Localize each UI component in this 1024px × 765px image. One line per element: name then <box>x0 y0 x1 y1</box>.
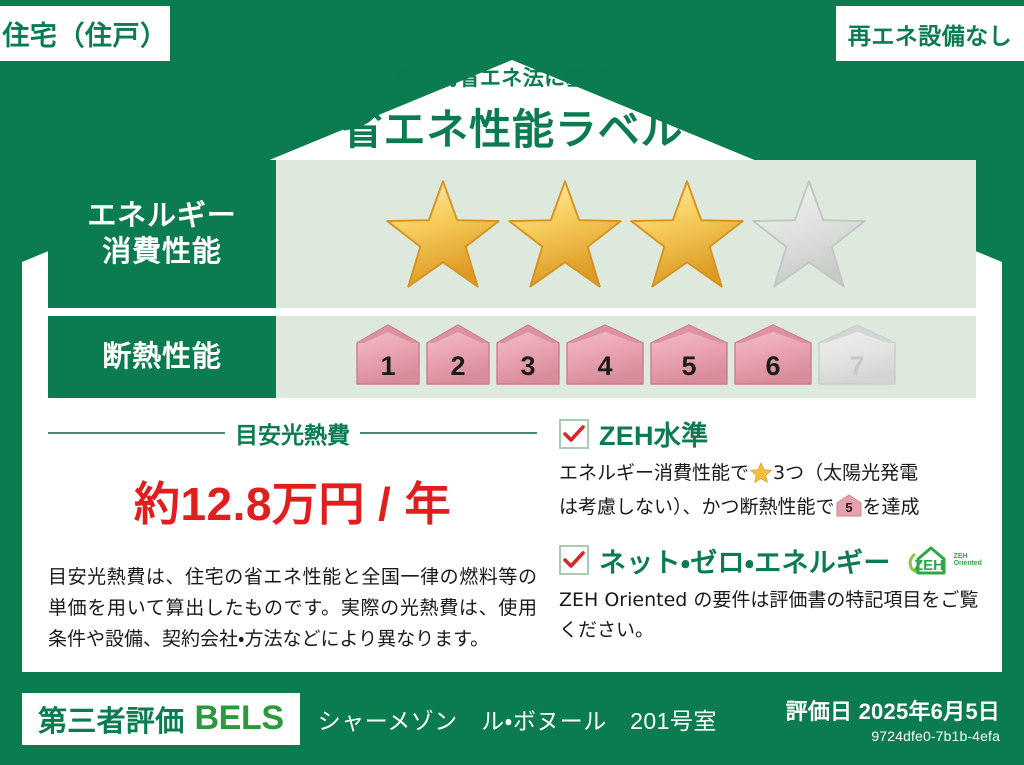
house-grade-filled: 2 <box>424 323 492 392</box>
house-grade-scale: 1234567 <box>354 323 898 392</box>
check-body-zeh-level: エネルギー消費性能で 3つ（太陽光発電 は考慮しない）、かつ断熱性能で 5 を達… <box>559 458 982 527</box>
star-filled-icon <box>383 176 503 292</box>
checkbox-zeh-level[interactable] <box>559 419 589 449</box>
star-filled-icon <box>627 176 747 292</box>
performance-area: エネルギー 消費性能 断熱性能 1234567 <box>48 160 976 406</box>
house-grade-filled: 5 <box>648 323 730 392</box>
cost-heading-row: 目安光熱費 <box>48 416 537 450</box>
house-icon <box>816 323 898 387</box>
footer-meta: 評価日 2025年6月5日 9724dfe0-7b1b-4efa <box>786 694 1000 744</box>
energy-stars-container <box>276 160 976 308</box>
check-title-zeh-level: ZEH水準 <box>599 414 708 453</box>
rule-right <box>360 432 537 434</box>
bels-badge-en: BELS <box>194 699 283 738</box>
cost-value: 約12.8万円 / 年 <box>48 468 537 534</box>
label-energy-performance: エネルギー 消費性能 <box>48 160 276 308</box>
zeh-body-part2: は考慮しない）、かつ断熱性能で <box>559 496 835 518</box>
zeh-caption-line2: Oriented <box>954 560 982 567</box>
footer: 第三者評価 BELS シャーメゾン ル・ボヌール 201号室 評価日 2025年… <box>0 672 1024 765</box>
star-rating <box>383 176 869 292</box>
rule-left <box>48 432 225 434</box>
zeh-oriented-logo: ZEH ZEH Oriented <box>905 543 982 577</box>
svg-text:ZEH: ZEH <box>914 557 944 574</box>
tag-renewable-equipment: 再エネ設備なし <box>836 6 1024 61</box>
label-insulation-line1: 断熱性能 <box>102 339 221 375</box>
tag-dwelling-type: 住宅（住戸） <box>0 6 170 61</box>
evaluation-date: 評価日 2025年6月5日 <box>786 694 1000 726</box>
insulation-grades-container: 1234567 <box>276 316 976 398</box>
house-icon <box>354 323 422 387</box>
inline-house-grade-icon: 5 <box>836 494 862 526</box>
house-icon <box>564 323 646 387</box>
lower-content: 目安光熱費 約12.8万円 / 年 目安光熱費は、住宅の省エネ性能と全国一律の燃… <box>48 414 976 644</box>
checkbox-net-zero-energy[interactable] <box>559 545 589 575</box>
page-title: 省エネ性能ラベル <box>0 96 1024 157</box>
house-icon <box>648 323 730 387</box>
check-item-net-zero-energy: ネット・ゼロ・エネルギー ZEH ZEH Oriented <box>559 541 982 646</box>
label-energy-line2: 消費性能 <box>102 234 221 270</box>
cost-column: 目安光熱費 約12.8万円 / 年 目安光熱費は、住宅の省エネ性能と全国一律の燃… <box>48 414 545 644</box>
check-line-net-zero-energy: ネット・ゼロ・エネルギー ZEH ZEH Oriented <box>559 541 982 580</box>
check-body-net-zero-energy: ZEH Oriented の要件は評価書の特記項目をご覧ください。 <box>559 585 982 646</box>
house-grade-empty: 7 <box>816 323 898 392</box>
label-insulation-performance: 断熱性能 <box>48 316 276 398</box>
svg-text:5: 5 <box>845 500 852 515</box>
title-block: 建築物省エネ法に基づく 省エネ性能ラベル <box>0 62 1024 157</box>
zeh-body-part3: を達成 <box>863 496 920 518</box>
zeh-caption-line1: ZEH <box>954 553 968 560</box>
check-title-net-zero-energy: ネット・ゼロ・エネルギー <box>599 541 891 580</box>
house-grade-filled: 6 <box>732 323 814 392</box>
house-grade-filled: 4 <box>564 323 646 392</box>
row-insulation-performance: 断熱性能 1234567 <box>48 316 976 398</box>
zeh-body-star-text: 3つ（太陽光発電 <box>773 462 918 484</box>
title-subtitle: 建築物省エネ法に基づく <box>0 62 1024 92</box>
checks-column: ZEH水準 エネルギー消費性能で 3つ（太陽光発電 は考慮しない）、かつ断熱性能… <box>545 414 982 644</box>
label-energy-line1: エネルギー <box>87 198 236 234</box>
house-icon <box>732 323 814 387</box>
cost-note: 目安光熱費は、住宅の省エネ性能と全国一律の燃料等の単価を用いて算出したものです。… <box>48 562 537 654</box>
bels-badge: 第三者評価 BELS <box>22 693 300 745</box>
check-line-zeh-level: ZEH水準 <box>559 414 982 453</box>
zeh-logo-caption: ZEH Oriented <box>954 553 982 568</box>
row-energy-performance: エネルギー 消費性能 <box>48 160 976 308</box>
property-name: シャーメゾン ル・ボヌール 201号室 <box>318 702 717 736</box>
star-empty-icon <box>749 176 869 292</box>
inline-star-icon <box>750 462 772 492</box>
bels-badge-jp: 第三者評価 <box>38 698 184 740</box>
check-item-zeh-level: ZEH水準 エネルギー消費性能で 3つ（太陽光発電 は考慮しない）、かつ断熱性能… <box>559 414 982 527</box>
house-grade-filled: 3 <box>494 323 562 392</box>
house-icon <box>424 323 492 387</box>
evaluation-id: 9724dfe0-7b1b-4efa <box>786 728 1000 744</box>
energy-label-root: 住宅（住戸） 再エネ設備なし 建築物省エネ法に基づく 省エネ性能ラベル エネルギ… <box>0 0 1024 765</box>
house-grade-filled: 1 <box>354 323 422 392</box>
zeh-body-part1: エネルギー消費性能で <box>559 462 749 484</box>
star-filled-icon <box>505 176 625 292</box>
house-icon <box>494 323 562 387</box>
cost-heading: 目安光熱費 <box>235 416 350 450</box>
